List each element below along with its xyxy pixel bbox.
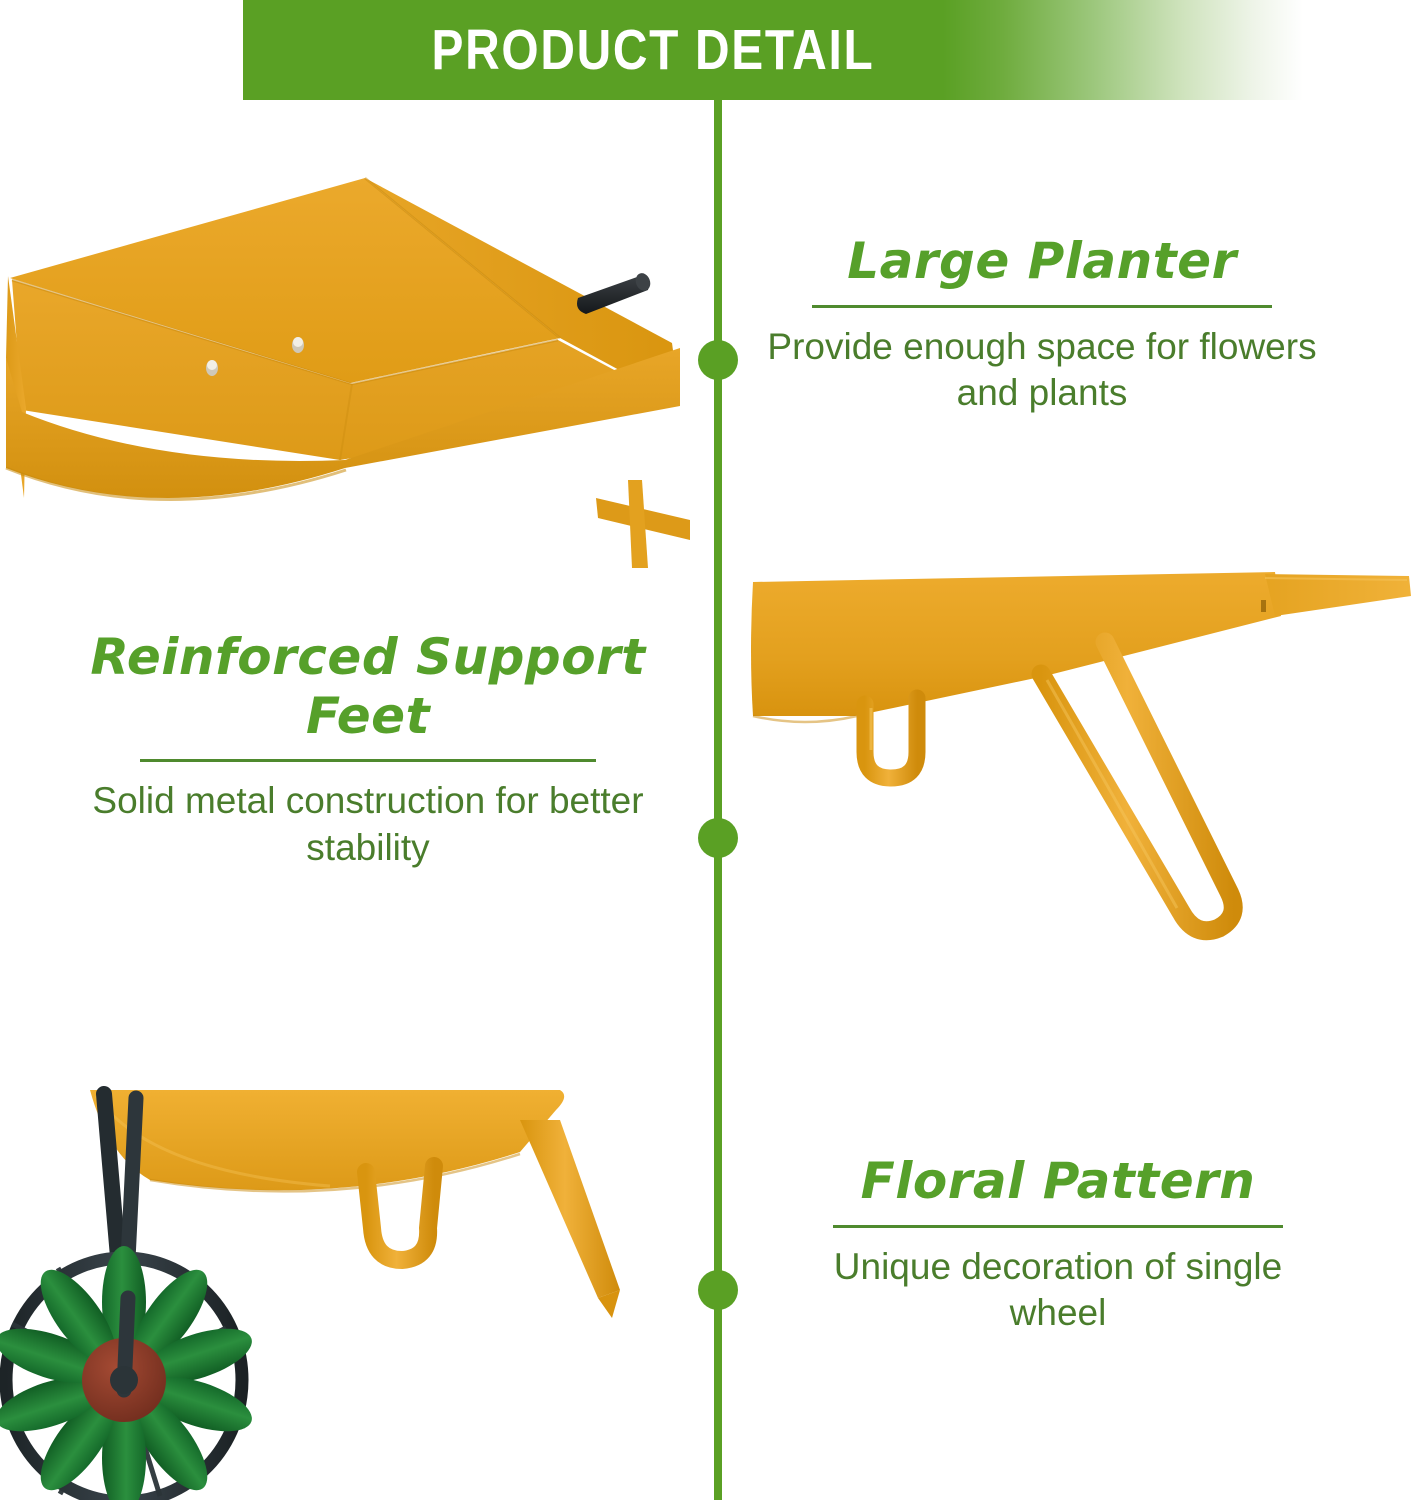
- feature-heading-support-feet: Reinforced Support Feet: [78, 628, 658, 745]
- feature-floral-pattern: Floral Pattern Unique decoration of sing…: [788, 1152, 1328, 1337]
- feature-large-planter: Large Planter Provide enough space for f…: [762, 232, 1322, 417]
- support-feet-photo: [745, 556, 1414, 976]
- timeline-dot-large-planter: [698, 340, 738, 380]
- wheel-assembly: [0, 1246, 258, 1500]
- timeline-dot-floral-pattern: [698, 1270, 738, 1310]
- timeline-dot-support-feet: [698, 818, 738, 858]
- header-banner: PRODUCT DETAIL: [243, 0, 1414, 100]
- page-title: PRODUCT DETAIL: [309, 0, 998, 100]
- feature-description-support-feet: Solid metal construction for better stab…: [78, 778, 658, 872]
- feature-divider-support-feet: [140, 759, 596, 762]
- flower-wheel-photo: [0, 1060, 660, 1500]
- handle-grip: [577, 271, 653, 314]
- feature-heading-large-planter: Large Planter: [762, 232, 1322, 291]
- feature-divider-floral-pattern: [833, 1225, 1283, 1228]
- feature-heading-floral-pattern: Floral Pattern: [788, 1152, 1328, 1211]
- planter-tray-photo: [0, 168, 690, 568]
- feature-description-large-planter: Provide enough space for flowers and pla…: [762, 324, 1322, 418]
- feature-divider-large-planter: [812, 305, 1272, 308]
- feature-support-feet: Reinforced Support Feet Solid metal cons…: [78, 628, 658, 872]
- feature-description-floral-pattern: Unique decoration of single wheel: [788, 1244, 1328, 1338]
